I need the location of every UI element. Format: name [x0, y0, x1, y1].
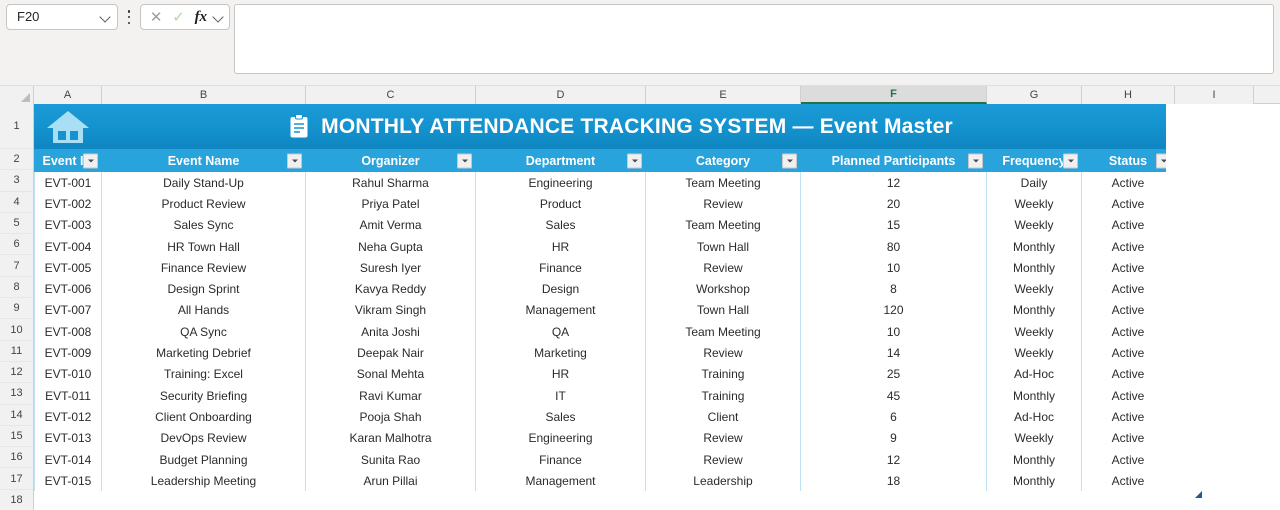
cell-department[interactable]: Finance: [476, 257, 646, 278]
cell-event-id[interactable]: EVT-014: [34, 449, 102, 470]
cell-department[interactable]: Sales: [476, 215, 646, 236]
cell-frequency[interactable]: Monthly: [987, 385, 1082, 406]
cell-department[interactable]: HR: [476, 364, 646, 385]
cell-category[interactable]: Review: [646, 428, 801, 449]
select-all-corner[interactable]: [0, 86, 34, 104]
cell-planned-participants[interactable]: 45: [801, 385, 987, 406]
row-header-7[interactable]: 7: [0, 255, 33, 276]
row-header-10[interactable]: 10: [0, 319, 33, 340]
cell-frequency[interactable]: Weekly: [987, 193, 1082, 214]
kebab-dot: [128, 10, 131, 13]
cell-organizer[interactable]: Kavya Reddy: [306, 278, 476, 299]
table-row[interactable]: EVT-010Training: ExcelSonal MehtaHRTrain…: [34, 364, 1200, 385]
cell-event-name[interactable]: Leadership Meeting: [102, 470, 306, 491]
cell-category[interactable]: Review: [646, 193, 801, 214]
table-row[interactable]: EVT-008QA SyncAnita JoshiQATeam Meeting1…: [34, 321, 1200, 342]
cell-event-id[interactable]: EVT-009: [34, 342, 102, 363]
cell-event-name[interactable]: DevOps Review: [102, 428, 306, 449]
cell-event-id[interactable]: EVT-013: [34, 428, 102, 449]
table-row[interactable]: EVT-014Budget PlanningSunita RaoFinanceR…: [34, 449, 1200, 470]
cell-status[interactable]: Active: [1082, 364, 1175, 385]
cell-frequency[interactable]: Weekly: [987, 321, 1082, 342]
row-header-5[interactable]: 5: [0, 213, 33, 234]
cell-department[interactable]: Sales: [476, 406, 646, 427]
insert-function-button[interactable]: fx: [191, 6, 211, 28]
cell-status[interactable]: Active: [1082, 470, 1175, 491]
cell-status[interactable]: Active: [1082, 342, 1175, 363]
cell-event-id[interactable]: EVT-001: [34, 172, 102, 193]
cell-planned-participants[interactable]: 25: [801, 364, 987, 385]
column-header-g[interactable]: G: [987, 86, 1082, 104]
cell-status[interactable]: Active: [1082, 406, 1175, 427]
cell-event-id[interactable]: EVT-010: [34, 364, 102, 385]
kebab-dot: [128, 22, 131, 25]
empty-column-area[interactable]: [1166, 104, 1246, 510]
cell-status[interactable]: Active: [1082, 215, 1175, 236]
cell-status[interactable]: Active: [1082, 236, 1175, 257]
table-body: EVT-001Daily Stand-UpRahul SharmaEnginee…: [34, 172, 1280, 491]
row-header-8[interactable]: 8: [0, 277, 33, 298]
cell-category[interactable]: Team Meeting: [646, 172, 801, 193]
row-header-17[interactable]: 17: [0, 468, 33, 489]
cell-planned-participants[interactable]: 14: [801, 342, 987, 363]
cell-category[interactable]: Workshop: [646, 278, 801, 299]
cell-planned-participants[interactable]: 10: [801, 321, 987, 342]
table-row[interactable]: EVT-015Leadership MeetingArun PillaiMana…: [34, 470, 1200, 491]
cell-category[interactable]: Review: [646, 342, 801, 363]
chevron-down-icon[interactable]: [213, 12, 224, 23]
cell-department[interactable]: Finance: [476, 449, 646, 470]
cell-event-name[interactable]: Security Briefing: [102, 385, 306, 406]
cell-status[interactable]: Active: [1082, 257, 1175, 278]
formula-bar: F20 ✕ ✓ fx: [0, 0, 1280, 86]
cell-event-name[interactable]: HR Town Hall: [102, 236, 306, 257]
cell-event-id[interactable]: EVT-002: [34, 193, 102, 214]
cell-frequency[interactable]: Monthly: [987, 257, 1082, 278]
home-button[interactable]: [34, 108, 102, 146]
empty-row-18[interactable]: [34, 491, 1200, 510]
cell-department[interactable]: Product: [476, 193, 646, 214]
cell-planned-participants[interactable]: 15: [801, 215, 987, 236]
cell-frequency[interactable]: Weekly: [987, 278, 1082, 299]
filter-dropdown-icon[interactable]: [627, 153, 642, 168]
table-row[interactable]: EVT-013DevOps ReviewKaran MalhotraEngine…: [34, 428, 1200, 449]
cell-organizer[interactable]: Anita Joshi: [306, 321, 476, 342]
cell-status[interactable]: Active: [1082, 385, 1175, 406]
cell-category[interactable]: Town Hall: [646, 300, 801, 321]
column-header-c[interactable]: C: [306, 86, 476, 104]
cell-organizer[interactable]: Pooja Shah: [306, 406, 476, 427]
cell-planned-participants[interactable]: 120: [801, 300, 987, 321]
filter-dropdown-icon[interactable]: [457, 153, 472, 168]
cell-event-name[interactable]: Sales Sync: [102, 215, 306, 236]
table-row[interactable]: EVT-009Marketing DebriefDeepak NairMarke…: [34, 342, 1200, 363]
column-header-e[interactable]: E: [646, 86, 801, 104]
cell-status[interactable]: Active: [1082, 193, 1175, 214]
cell-department[interactable]: Management: [476, 470, 646, 491]
cell-planned-participants[interactable]: 18: [801, 470, 987, 491]
cell-event-name[interactable]: Training: Excel: [102, 364, 306, 385]
cell-frequency[interactable]: Ad-Hoc: [987, 364, 1082, 385]
name-box-value: F20: [17, 5, 100, 29]
table-header-event-id[interactable]: Event ID: [34, 149, 102, 172]
cell-frequency[interactable]: Monthly: [987, 300, 1082, 321]
filter-dropdown-icon[interactable]: [287, 153, 302, 168]
cell-event-name[interactable]: QA Sync: [102, 321, 306, 342]
header-label: Event Name: [168, 154, 240, 168]
header-label: Organizer: [361, 154, 419, 168]
sheet-area: MONTHLY ATTENDANCE TRACKING SYSTEM — Eve…: [34, 104, 1280, 510]
cell-department[interactable]: QA: [476, 321, 646, 342]
cell-planned-participants[interactable]: 20: [801, 193, 987, 214]
column-header-f[interactable]: F: [801, 86, 987, 104]
chevron-down-icon[interactable]: [100, 12, 111, 23]
cell-planned-participants[interactable]: 8: [801, 278, 987, 299]
row-header-3[interactable]: 3: [0, 170, 33, 191]
column-header-h[interactable]: H: [1082, 86, 1175, 104]
cell-organizer[interactable]: Sonal Mehta: [306, 364, 476, 385]
table-header-department[interactable]: Department: [476, 149, 646, 172]
header-label: Status: [1109, 154, 1147, 168]
cell-organizer[interactable]: Arun Pillai: [306, 470, 476, 491]
cell-organizer[interactable]: Rahul Sharma: [306, 172, 476, 193]
page-title: MONTHLY ATTENDANCE TRACKING SYSTEM — Eve…: [321, 115, 953, 139]
banner-title-group: MONTHLY ATTENDANCE TRACKING SYSTEM — Eve…: [102, 114, 1200, 139]
formula-action-group: ✕ ✓ fx: [140, 4, 230, 30]
cell-event-id[interactable]: EVT-015: [34, 470, 102, 491]
cell-department[interactable]: Management: [476, 300, 646, 321]
cell-planned-participants[interactable]: 12: [801, 172, 987, 193]
table-header-frequency[interactable]: Frequency: [987, 149, 1082, 172]
cell-event-name[interactable]: Client Onboarding: [102, 406, 306, 427]
cell-frequency[interactable]: Weekly: [987, 215, 1082, 236]
cell-planned-participants[interactable]: 6: [801, 406, 987, 427]
cell-frequency[interactable]: Ad-Hoc: [987, 406, 1082, 427]
header-label: Department: [526, 154, 595, 168]
home-icon: [45, 108, 91, 146]
table-header-status[interactable]: Status: [1082, 149, 1175, 172]
cell-event-name[interactable]: Marketing Debrief: [102, 342, 306, 363]
cancel-formula-button[interactable]: ✕: [146, 6, 166, 28]
cell-organizer[interactable]: Deepak Nair: [306, 342, 476, 363]
cell-event-name[interactable]: Design Sprint: [102, 278, 306, 299]
row-header-gutter: 1 2 3 4 5 6 7 8 9 10 11 12 13 14 15 16 1…: [0, 104, 34, 510]
kebab-menu-icon[interactable]: [124, 7, 134, 27]
cell-event-id[interactable]: EVT-012: [34, 406, 102, 427]
cell-planned-participants[interactable]: 12: [801, 449, 987, 470]
cell-frequency[interactable]: Weekly: [987, 342, 1082, 363]
table-header-event-name[interactable]: Event Name: [102, 149, 306, 172]
cell-event-name[interactable]: Daily Stand-Up: [102, 172, 306, 193]
cell-status[interactable]: Active: [1082, 321, 1175, 342]
confirm-formula-button[interactable]: ✓: [168, 6, 188, 28]
row-header-1[interactable]: 1: [0, 104, 33, 149]
row-header-14[interactable]: 14: [0, 405, 33, 426]
table-header-organizer[interactable]: Organizer: [306, 149, 476, 172]
table-row[interactable]: EVT-011Security BriefingRavi KumarITTrai…: [34, 385, 1200, 406]
cell-organizer[interactable]: Karan Malhotra: [306, 428, 476, 449]
name-box[interactable]: F20: [6, 4, 118, 30]
title-banner: MONTHLY ATTENDANCE TRACKING SYSTEM — Eve…: [34, 104, 1200, 149]
row-header-16[interactable]: 16: [0, 447, 33, 468]
cell-organizer[interactable]: Amit Verma: [306, 215, 476, 236]
cell-status[interactable]: Active: [1082, 428, 1175, 449]
table-row[interactable]: EVT-001Daily Stand-UpRahul SharmaEnginee…: [34, 172, 1200, 193]
row-header-15[interactable]: 15: [0, 426, 33, 447]
table-row[interactable]: EVT-002Product ReviewPriya PatelProductR…: [34, 193, 1200, 214]
row-header-11[interactable]: 11: [0, 341, 33, 362]
cell-planned-participants[interactable]: 80: [801, 236, 987, 257]
cell-department[interactable]: IT: [476, 385, 646, 406]
table-header-category[interactable]: Category: [646, 149, 801, 172]
cell-department[interactable]: Design: [476, 278, 646, 299]
header-label: Frequency: [1002, 154, 1065, 168]
cell-planned-participants[interactable]: 10: [801, 257, 987, 278]
row-header-6[interactable]: 6: [0, 234, 33, 255]
filter-dropdown-icon[interactable]: [782, 153, 797, 168]
row-header-18[interactable]: 18: [0, 490, 33, 510]
cell-category[interactable]: Client: [646, 406, 801, 427]
cell-department[interactable]: Marketing: [476, 342, 646, 363]
close-icon: ✕: [150, 10, 163, 25]
cell-event-id[interactable]: EVT-005: [34, 257, 102, 278]
cell-category[interactable]: Leadership: [646, 470, 801, 491]
table-row[interactable]: EVT-007All HandsVikram SinghManagementTo…: [34, 300, 1200, 321]
row-header-12[interactable]: 12: [0, 362, 33, 383]
cell-event-name[interactable]: Budget Planning: [102, 449, 306, 470]
cell-department[interactable]: Engineering: [476, 428, 646, 449]
cell-category[interactable]: Training: [646, 385, 801, 406]
cell-organizer[interactable]: Suresh Iyer: [306, 257, 476, 278]
cell-event-id[interactable]: EVT-006: [34, 278, 102, 299]
table-header-planned-participants[interactable]: Planned Participants: [801, 149, 987, 172]
header-label: Category: [696, 154, 750, 168]
cell-event-name[interactable]: Product Review: [102, 193, 306, 214]
column-header-a[interactable]: A: [34, 86, 102, 104]
cell-event-name[interactable]: All Hands: [102, 300, 306, 321]
cell-event-name[interactable]: Finance Review: [102, 257, 306, 278]
cell-frequency[interactable]: Monthly: [987, 470, 1082, 491]
row-header-4[interactable]: 4: [0, 192, 33, 213]
table-row[interactable]: EVT-005Finance ReviewSuresh IyerFinanceR…: [34, 257, 1200, 278]
cell-planned-participants[interactable]: 9: [801, 428, 987, 449]
cell-category[interactable]: Team Meeting: [646, 215, 801, 236]
cell-event-id[interactable]: EVT-004: [34, 236, 102, 257]
cell-department[interactable]: Engineering: [476, 172, 646, 193]
filter-dropdown-icon[interactable]: [968, 153, 983, 168]
table-row[interactable]: EVT-004HR Town HallNeha GuptaHRTown Hall…: [34, 236, 1200, 257]
column-header-row: A B C D E F G H I: [0, 86, 1280, 104]
cell-event-id[interactable]: EVT-003: [34, 215, 102, 236]
cell-status[interactable]: Active: [1082, 172, 1175, 193]
spreadsheet-grid: 1 2 3 4 5 6 7 8 9 10 11 12 13 14 15 16 1…: [0, 104, 1280, 510]
cell-frequency[interactable]: Monthly: [987, 449, 1082, 470]
cell-category[interactable]: Team Meeting: [646, 321, 801, 342]
check-icon: ✓: [172, 10, 185, 25]
cell-status[interactable]: Active: [1082, 449, 1175, 470]
table-resize-handle[interactable]: [1194, 490, 1202, 498]
row-header-9[interactable]: 9: [0, 298, 33, 319]
header-label: Planned Participants: [832, 154, 956, 168]
cell-event-id[interactable]: EVT-007: [34, 300, 102, 321]
table-row[interactable]: EVT-006Design SprintKavya ReddyDesignWor…: [34, 278, 1200, 299]
cell-category[interactable]: Training: [646, 364, 801, 385]
cell-department[interactable]: HR: [476, 236, 646, 257]
cell-organizer[interactable]: Ravi Kumar: [306, 385, 476, 406]
cell-frequency[interactable]: Weekly: [987, 428, 1082, 449]
table-header-row: Event ID Event Name Organizer Department…: [34, 149, 1200, 172]
cell-event-id[interactable]: EVT-011: [34, 385, 102, 406]
kebab-dot: [128, 16, 131, 19]
row-header-2[interactable]: 2: [0, 149, 33, 170]
cell-status[interactable]: Active: [1082, 278, 1175, 299]
cell-event-id[interactable]: EVT-008: [34, 321, 102, 342]
cell-organizer[interactable]: Priya Patel: [306, 193, 476, 214]
row-header-13[interactable]: 13: [0, 383, 33, 404]
clipboard-icon: [289, 114, 309, 139]
cell-category[interactable]: Review: [646, 257, 801, 278]
cell-frequency[interactable]: Monthly: [987, 236, 1082, 257]
filter-dropdown-icon[interactable]: [83, 153, 98, 168]
cell-category[interactable]: Town Hall: [646, 236, 801, 257]
cell-organizer[interactable]: Neha Gupta: [306, 236, 476, 257]
cell-status[interactable]: Active: [1082, 300, 1175, 321]
table-row[interactable]: EVT-012Client OnboardingPooja ShahSalesC…: [34, 406, 1200, 427]
cell-category[interactable]: Review: [646, 449, 801, 470]
column-header-d[interactable]: D: [476, 86, 646, 104]
cell-frequency[interactable]: Daily: [987, 172, 1082, 193]
formula-input[interactable]: [234, 4, 1274, 74]
table-row[interactable]: EVT-003Sales SyncAmit VermaSalesTeam Mee…: [34, 215, 1200, 236]
cell-organizer[interactable]: Vikram Singh: [306, 300, 476, 321]
column-header-b[interactable]: B: [102, 86, 306, 104]
fx-icon: fx: [195, 10, 208, 25]
cell-organizer[interactable]: Sunita Rao: [306, 449, 476, 470]
column-header-i[interactable]: I: [1175, 86, 1254, 104]
filter-dropdown-icon[interactable]: [1063, 153, 1078, 168]
